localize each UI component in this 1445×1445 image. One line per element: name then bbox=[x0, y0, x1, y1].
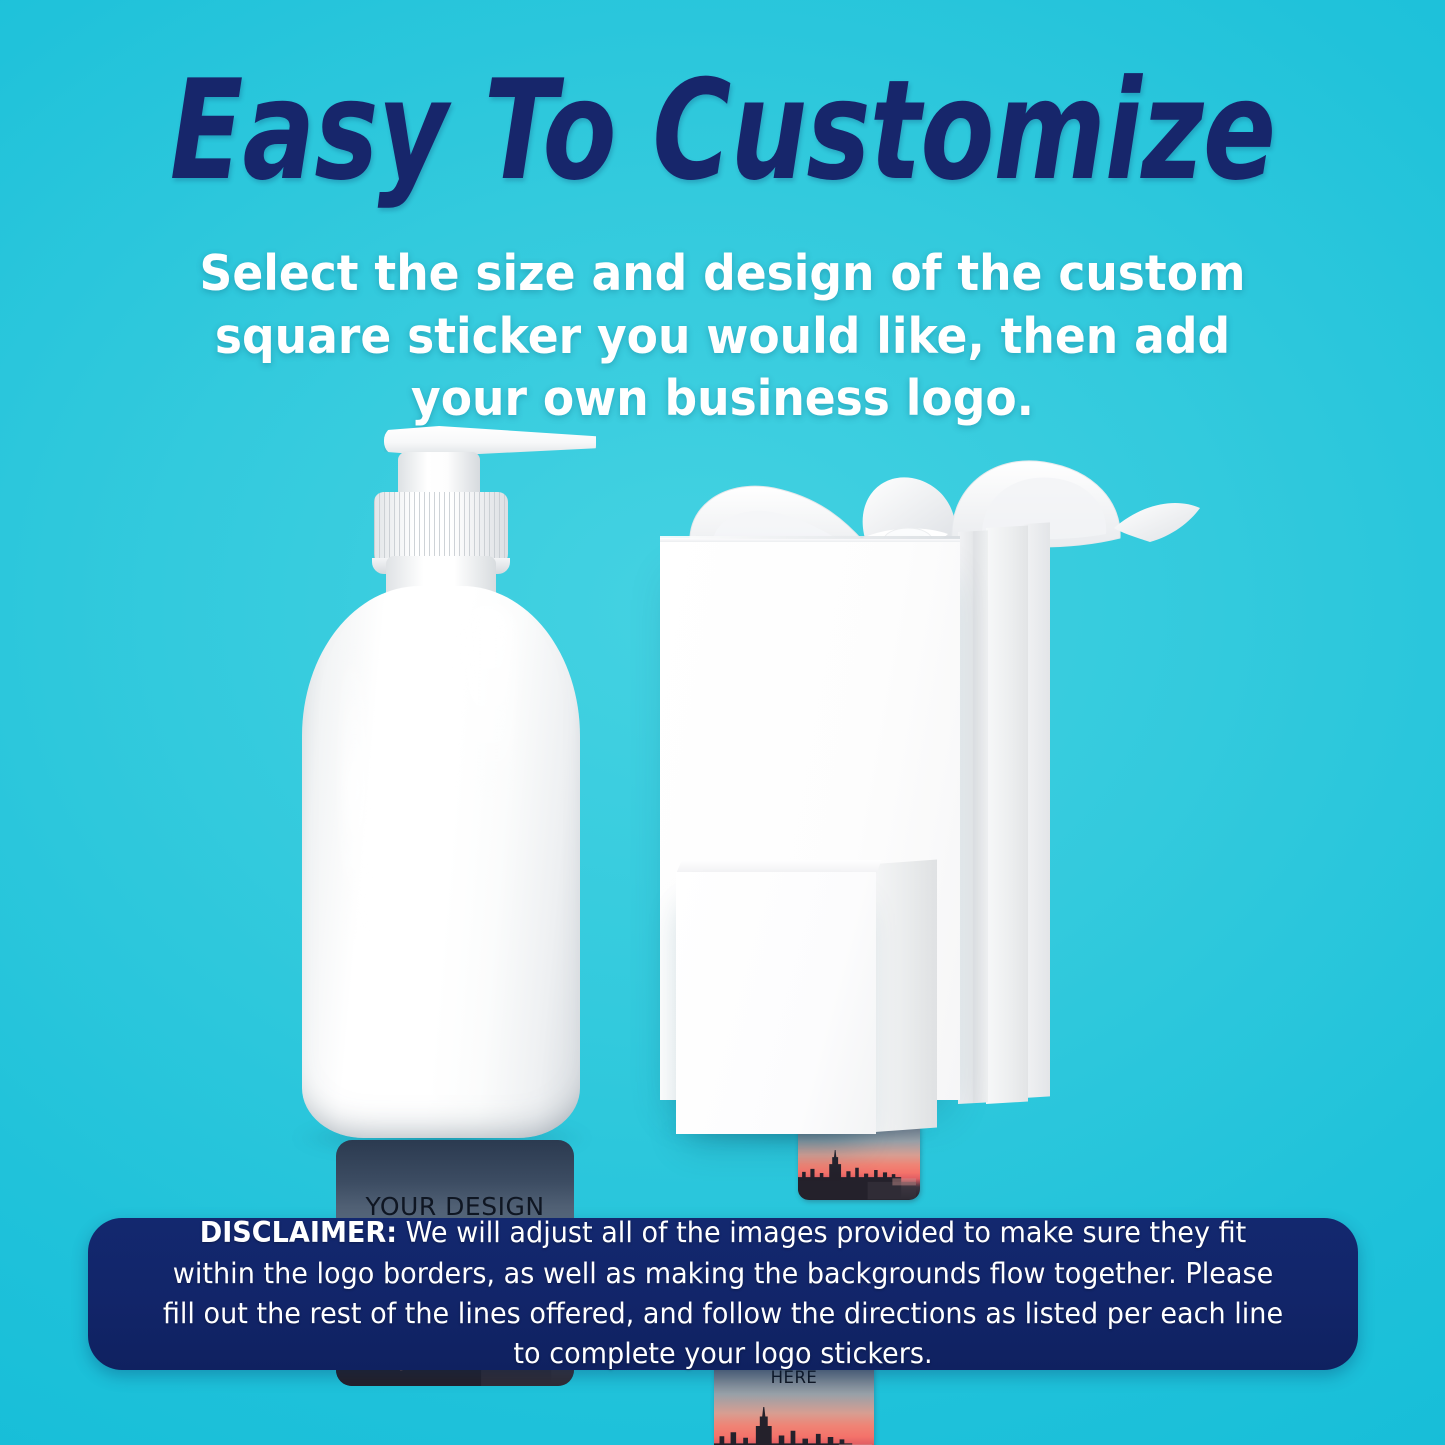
small-box-front-panel bbox=[676, 872, 876, 1134]
gift-box-side-panel bbox=[986, 526, 1028, 1104]
bottle-edge-highlight bbox=[342, 638, 368, 938]
bottle-highlight bbox=[462, 604, 514, 794]
small-box-product bbox=[676, 862, 976, 1152]
small-box-side-panel bbox=[875, 859, 937, 1132]
city-skyline-icon bbox=[798, 1150, 916, 1200]
product-mockup-scene: YOUR DESIGN HERE YOUR DESIGN HERE bbox=[0, 390, 1445, 1190]
disclaimer-text: DISCLAIMER: We will adjust all of the im… bbox=[158, 1213, 1289, 1375]
page-title: Easy To Customize bbox=[159, 62, 1286, 200]
promo-graphic: Easy To Customize Select the size and de… bbox=[0, 0, 1445, 1445]
disclaimer-banner: DISCLAIMER: We will adjust all of the im… bbox=[88, 1218, 1358, 1370]
city-skyline-icon bbox=[714, 1407, 872, 1445]
pump-bottle-product bbox=[286, 408, 606, 1174]
gift-box-lid-line bbox=[660, 536, 960, 539]
disclaimer-prefix: DISCLAIMER: bbox=[200, 1216, 397, 1249]
